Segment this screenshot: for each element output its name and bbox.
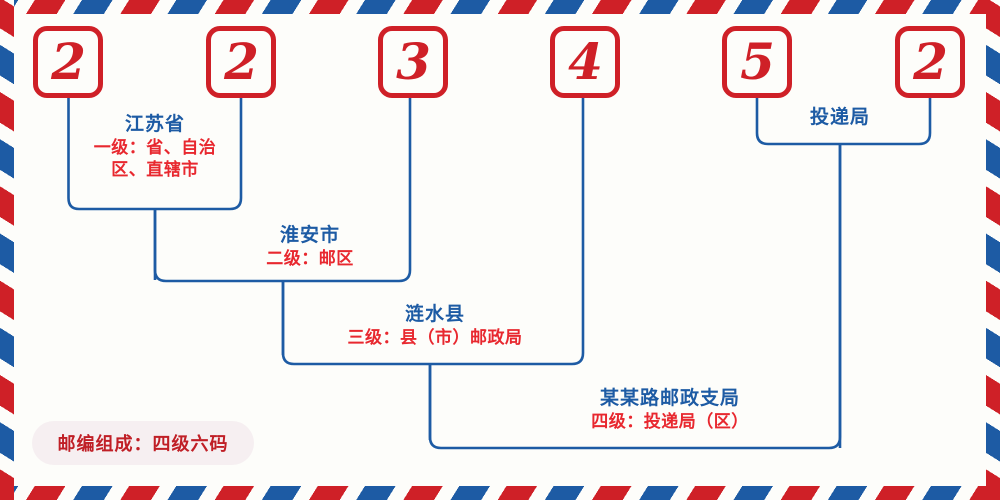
postcode-digit-5: 5 <box>727 37 787 87</box>
level-3-title: 涟水县 <box>300 303 570 327</box>
postcode-digit-box-4: 4 <box>550 26 620 98</box>
postcode-digit-1: 2 <box>38 37 98 87</box>
level-2-subtitle: 二级：邮区 <box>180 248 440 270</box>
postcode-infographic: 2 2 3 4 5 2 江 <box>0 0 1000 500</box>
postcode-digit-2: 2 <box>211 37 271 87</box>
postcode-digit-4: 4 <box>555 37 615 87</box>
postcode-composition-tag: 邮编组成：四级六码 <box>32 421 254 465</box>
label-group-level-4: 某某路邮政支局 四级：投递局（区） <box>505 387 835 433</box>
postcode-composition-tag-label: 邮编组成：四级六码 <box>58 430 229 456</box>
postcode-digit-3: 3 <box>383 37 443 87</box>
postcode-digit-box-2: 2 <box>206 26 276 98</box>
label-group-delivery-office: 投递局 <box>765 106 915 130</box>
postcode-digit-6: 2 <box>900 37 960 87</box>
postcode-digit-box-1: 2 <box>33 26 103 98</box>
delivery-office-label: 投递局 <box>765 106 915 130</box>
level-4-subtitle: 四级：投递局（区） <box>505 411 835 433</box>
label-group-level-2: 淮安市 二级：邮区 <box>180 224 440 270</box>
postcode-digit-box-6: 2 <box>895 26 965 98</box>
label-group-level-3: 涟水县 三级：县（市）邮政局 <box>300 303 570 349</box>
level-1-subtitle: 一级：省、自治区、直辖市 <box>79 137 231 181</box>
level-2-title: 淮安市 <box>180 224 440 248</box>
level-4-title: 某某路邮政支局 <box>505 387 835 411</box>
postcode-digit-box-3: 3 <box>378 26 448 98</box>
label-group-level-1: 江苏省 一级：省、自治区、直辖市 <box>79 113 231 181</box>
postcode-digit-box-5: 5 <box>722 26 792 98</box>
level-3-subtitle: 三级：县（市）邮政局 <box>300 327 570 349</box>
level-1-title: 江苏省 <box>79 113 231 137</box>
